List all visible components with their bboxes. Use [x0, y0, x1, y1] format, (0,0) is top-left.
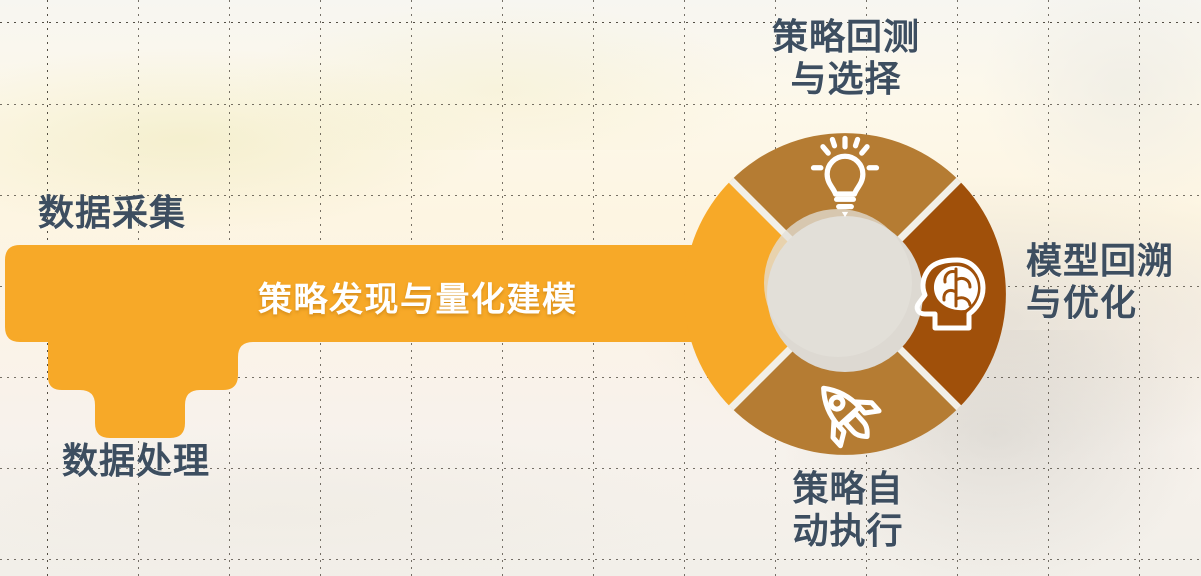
diagram-canvas: 策略发现与量化建模 数据采集 数据处理 策略回测 与选择 模型回溯 与优化 策略… [0, 0, 1201, 576]
key-and-donut-artwork [0, 0, 1201, 576]
bar-title: 策略发现与量化建模 [258, 272, 578, 321]
label-strategy-backtest: 策略回测 与选择 [740, 16, 952, 100]
label-data-processing: 数据处理 [62, 440, 210, 482]
label-auto-execution: 策略自 动执行 [760, 468, 936, 552]
donut-hole-highlight [764, 209, 912, 357]
label-data-collection: 数据采集 [38, 192, 186, 234]
label-model-review: 模型回溯 与优化 [1026, 240, 1201, 324]
